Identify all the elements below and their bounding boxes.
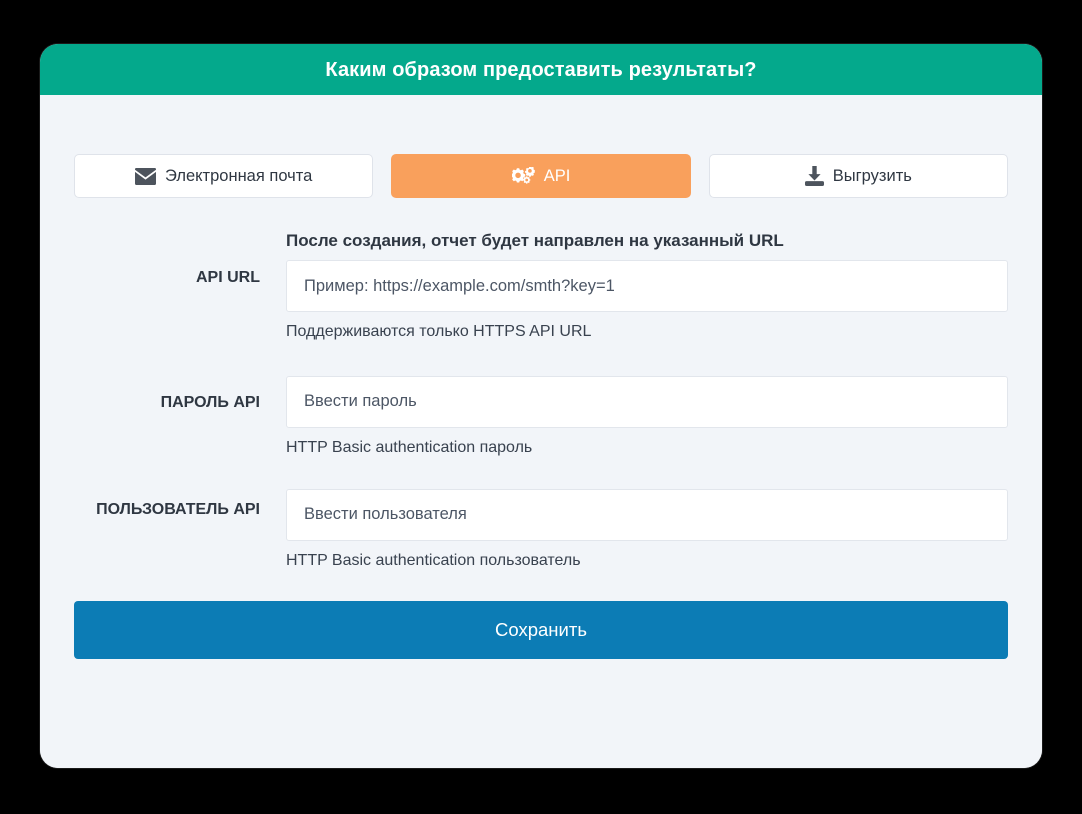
field-row-api-user: ПОЛЬЗОВАТЕЛЬ API HTTP Basic authenticati… <box>74 489 1008 570</box>
envelope-icon <box>135 168 156 185</box>
tab-download[interactable]: Выгрузить <box>709 154 1008 198</box>
tab-api-label: API <box>544 168 571 185</box>
hint-api-url: Поддерживаются только HTTPS API URL <box>286 322 1008 341</box>
help-api-url: После создания, отчет будет направлен на… <box>286 231 1008 251</box>
api-password-input[interactable] <box>286 376 1008 428</box>
label-api-user: ПОЛЬЗОВАТЕЛЬ API <box>74 489 286 520</box>
save-button[interactable]: Сохранить <box>74 601 1008 659</box>
modal-backdrop: Каким образом предоставить результаты? Э… <box>0 0 1082 814</box>
dialog-header: Каким образом предоставить результаты? <box>40 44 1042 95</box>
hint-api-user: HTTP Basic authentication пользователь <box>286 551 1008 570</box>
label-api-password: ПАРОЛЬ API <box>74 376 286 413</box>
dialog-body: Электронная почта API <box>40 95 1042 768</box>
control-api-password: HTTP Basic authentication пароль <box>286 376 1008 457</box>
control-api-user: HTTP Basic authentication пользователь <box>286 489 1008 570</box>
tab-download-label: Выгрузить <box>833 168 912 185</box>
label-api-url: API URL <box>74 231 286 288</box>
field-row-api-password: ПАРОЛЬ API HTTP Basic authentication пар… <box>74 376 1008 457</box>
dialog-footer: Сохранить <box>40 570 1042 659</box>
api-settings-form: API URL После создания, отчет будет напр… <box>40 198 1042 570</box>
api-user-input[interactable] <box>286 489 1008 541</box>
dialog-title: Каким образом предоставить результаты? <box>325 60 756 80</box>
download-icon <box>805 166 824 186</box>
delivery-method-tabs: Электронная почта API <box>40 95 1042 198</box>
hint-api-password: HTTP Basic authentication пароль <box>286 438 1008 457</box>
tab-email[interactable]: Электронная почта <box>74 154 373 198</box>
control-api-url: После создания, отчет будет направлен на… <box>286 231 1008 342</box>
api-url-input[interactable] <box>286 260 1008 312</box>
field-row-api-url: API URL После создания, отчет будет напр… <box>74 231 1008 342</box>
tab-api[interactable]: API <box>391 154 690 198</box>
provide-results-dialog: Каким образом предоставить результаты? Э… <box>40 44 1042 768</box>
tab-email-label: Электронная почта <box>165 168 312 185</box>
cogs-icon <box>512 167 535 186</box>
